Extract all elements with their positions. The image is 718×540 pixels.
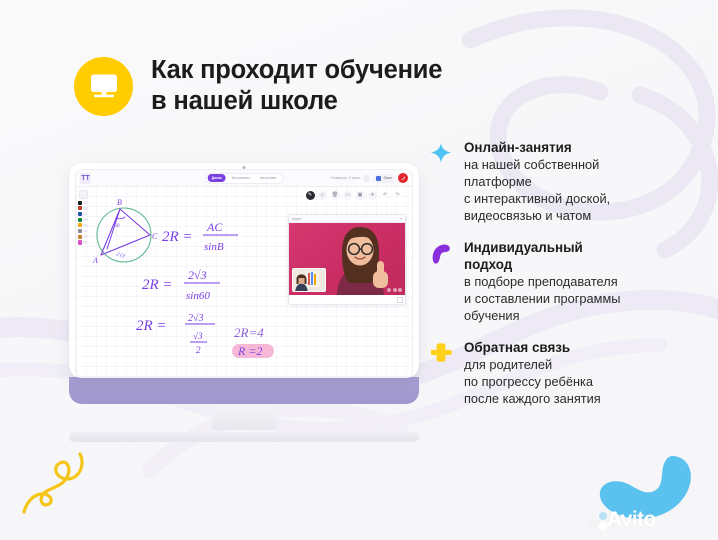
svg-text:2R =: 2R = (162, 229, 193, 245)
feature-body: в подборе преподавателя и составлении пр… (464, 274, 620, 325)
svg-text:2√3: 2√3 (115, 250, 126, 260)
promo-slide: Как проходит обучение в нашей школе ТТ Д… (0, 0, 718, 540)
app-tabs: Доска Материалы Настройки (205, 173, 284, 184)
camera-icon[interactable] (393, 288, 397, 292)
video-title: Видео (292, 217, 301, 221)
feature-text: Онлайн-занятия на нашей собственной плат… (464, 140, 610, 225)
avito-dots-icon (586, 508, 608, 532)
expand-icon[interactable] (397, 297, 403, 303)
crescent-icon (428, 240, 454, 325)
feature-text: Индивидуальный подход в подборе преподав… (464, 240, 620, 325)
video-stage (289, 223, 405, 295)
monitor-foot (69, 432, 419, 442)
pip-thumbnail[interactable] (292, 268, 326, 292)
svg-text:sinB: sinB (204, 241, 224, 253)
tab-materials[interactable]: Материалы (228, 174, 254, 182)
monitor-icon (89, 73, 119, 99)
end-call-button[interactable] (398, 173, 408, 183)
video-controls[interactable] (387, 288, 402, 292)
video-panel[interactable]: Видео ▾ (288, 214, 406, 305)
drawing-toolbar[interactable]: ✎ ◇ 🗑 ▭ ▣ ✛ ↶ ↷ (306, 191, 403, 200)
share-screen-icon (376, 176, 381, 181)
video-panel-footer (289, 295, 405, 304)
computer-mockup: ТТ Доска Материалы Настройки Геометрия, … (69, 163, 419, 442)
video-panel-header: Видео ▾ (289, 215, 405, 223)
plus-icon (428, 340, 454, 408)
whiteboard[interactable]: B C A 60 2√3 2R = AC sinB (76, 187, 412, 377)
app-topbar-right: Геометрия, 9 класс Share (330, 173, 408, 183)
monitor-base-bar (69, 377, 419, 404)
eraser-icon[interactable]: ◇ (318, 191, 327, 200)
svg-text:2√3: 2√3 (188, 268, 207, 282)
svg-text:A: A (92, 256, 98, 265)
monitor-neck (212, 404, 276, 430)
monitor-body: ТТ Доска Материалы Настройки Геометрия, … (69, 163, 419, 378)
svg-text:R =2: R =2 (237, 344, 262, 358)
feature-body: для родителей по прогрессу ребёнка после… (464, 357, 601, 408)
header-badge (74, 57, 133, 116)
feature-text: Обратная связь для родителей по прогресс… (464, 340, 601, 408)
feature-body: на нашей собственной платформе с интерак… (464, 157, 610, 225)
svg-text:2R =: 2R = (142, 277, 173, 293)
avatar (329, 223, 395, 295)
yellow-squiggle-icon (16, 452, 92, 518)
pen-icon[interactable]: ✎ (306, 191, 315, 200)
svg-text:√3: √3 (193, 331, 203, 341)
chevron-down-icon[interactable]: ▾ (400, 217, 402, 221)
feature-feedback: Обратная связь для родителей по прогресс… (428, 340, 708, 408)
svg-text:B: B (117, 198, 122, 207)
app-topbar: ТТ Доска Материалы Настройки Геометрия, … (76, 170, 412, 187)
lesson-name: Геометрия, 9 класс (330, 176, 360, 180)
trash-icon[interactable]: 🗑 (331, 191, 340, 200)
header: Как проходит обучение в нашей школе (74, 55, 442, 117)
svg-text:sin60: sin60 (186, 290, 210, 302)
svg-text:C: C (152, 232, 158, 241)
feature-individual-approach: Индивидуальный подход в подборе преподав… (428, 240, 708, 325)
image-icon[interactable]: ▣ (356, 191, 365, 200)
monitor-screen: ТТ Доска Материалы Настройки Геометрия, … (75, 169, 413, 378)
svg-text:AC: AC (206, 220, 223, 234)
svg-text:2R=4: 2R=4 (234, 325, 264, 340)
move-icon[interactable]: ✛ (368, 191, 377, 200)
feature-title: Онлайн-занятия (464, 140, 610, 156)
share-button[interactable]: Share (373, 174, 395, 183)
more-icon[interactable] (398, 288, 402, 292)
shapes-icon[interactable]: ▭ (343, 191, 352, 200)
mic-icon[interactable] (387, 288, 391, 292)
gear-icon[interactable] (363, 175, 370, 182)
redo-icon[interactable]: ↷ (393, 191, 402, 200)
app-logo-icon[interactable]: ТТ (80, 173, 91, 184)
tab-settings[interactable]: Настройки (256, 174, 281, 182)
svg-text:2: 2 (196, 345, 201, 355)
feature-title: Индивидуальный подход (464, 240, 620, 273)
svg-text:2R =: 2R = (136, 318, 167, 334)
avito-wordmark: Avito (607, 508, 656, 532)
feature-title: Обратная связь (464, 340, 601, 356)
feature-online-lessons: Онлайн-занятия на нашей собственной плат… (428, 140, 708, 225)
feature-list: Онлайн-занятия на нашей собственной плат… (428, 140, 708, 408)
star-icon (428, 140, 454, 225)
page-title: Как проходит обучение в нашей школе (151, 55, 442, 117)
share-label: Share (383, 176, 392, 180)
undo-icon[interactable]: ↶ (381, 191, 390, 200)
tab-board[interactable]: Доска (208, 174, 226, 182)
svg-text:2√3: 2√3 (188, 313, 204, 324)
svg-text:60: 60 (114, 223, 120, 229)
